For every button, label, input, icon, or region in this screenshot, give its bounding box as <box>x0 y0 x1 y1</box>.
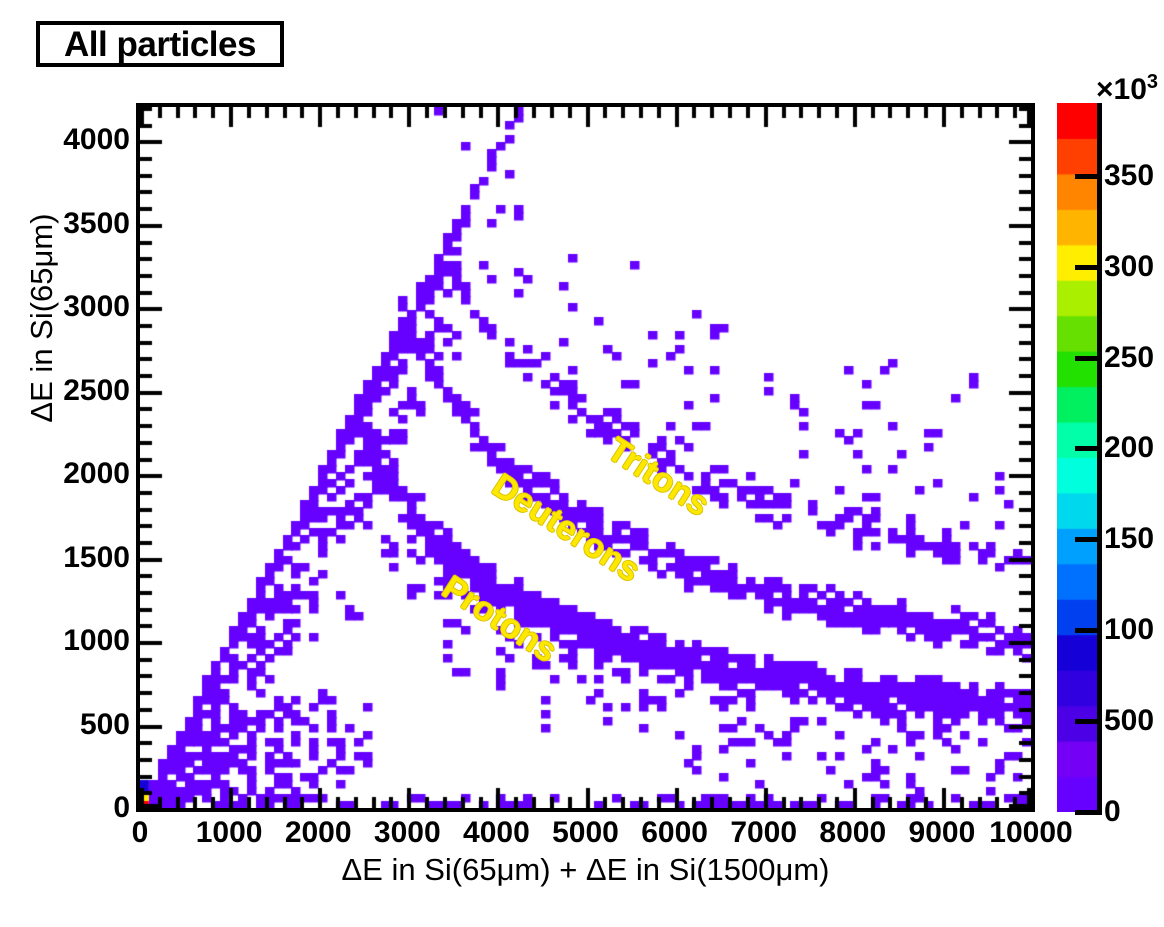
x-tick-label: 5000 <box>552 818 619 848</box>
x-axis-title: ΔE in Si(65μm) + ΔE in Si(1500μm) <box>136 852 1035 888</box>
y-tick-label: 3000 <box>63 292 130 322</box>
palette-tick-mark <box>1075 174 1102 179</box>
x-tick-label: 6000 <box>641 818 708 848</box>
y-tick-label: 500 <box>80 710 130 740</box>
palette-tick-label: 500 <box>1104 706 1154 736</box>
palette-tick-mark <box>1075 537 1102 542</box>
palette-tick-label: 100 <box>1104 615 1154 645</box>
x-tick-label: 2000 <box>285 818 352 848</box>
x-tick-label: 10000 <box>989 818 1072 848</box>
color-palette-bar <box>1057 103 1097 812</box>
y-tick-label: 2500 <box>63 376 130 406</box>
palette-tick-mark <box>1075 356 1102 361</box>
plot-frame <box>136 103 1035 812</box>
x-tick-label: 1000 <box>196 818 263 848</box>
y-tick-label: 1000 <box>63 626 130 656</box>
palette-tick-label: 350 <box>1104 161 1154 191</box>
palette-tick-label: 250 <box>1104 343 1154 373</box>
x-tick-label: 0 <box>132 818 149 848</box>
palette-tick-mark <box>1075 628 1102 633</box>
y-axis-title: ΔE in Si(65μm) <box>24 108 60 528</box>
title-label: All particles <box>64 27 256 62</box>
palette-tick-label: 300 <box>1104 252 1154 282</box>
y-tick-label: 3500 <box>63 209 130 239</box>
y-tick-label: 4000 <box>63 125 130 155</box>
palette-tick-mark <box>1075 265 1102 270</box>
palette-tick-mark <box>1075 810 1102 815</box>
palette-tick-mark <box>1075 446 1102 451</box>
x-tick-label: 8000 <box>819 818 886 848</box>
y-tick-label: 1500 <box>63 543 130 573</box>
x-tick-label: 3000 <box>374 818 441 848</box>
x-tick-label: 4000 <box>463 818 530 848</box>
palette-exponent-label: ×103 <box>1096 72 1158 105</box>
y-tick-label: 2000 <box>63 459 130 489</box>
x-tick-label: 9000 <box>909 818 976 848</box>
color-palette-axis <box>1097 103 1102 812</box>
x-tick-label: 7000 <box>730 818 797 848</box>
palette-tick-label: 200 <box>1104 433 1154 463</box>
palette-tick-mark <box>1075 719 1102 724</box>
palette-tick-label: 0 <box>1104 797 1121 827</box>
title-box: All particles <box>36 21 284 67</box>
histogram-2d <box>140 107 1031 808</box>
y-tick-label: 0 <box>113 793 130 823</box>
palette-tick-label: 150 <box>1104 524 1154 554</box>
color-palette-gradient <box>1057 103 1097 812</box>
plot-canvas: All particles 01000200030004000500060007… <box>0 0 1164 927</box>
